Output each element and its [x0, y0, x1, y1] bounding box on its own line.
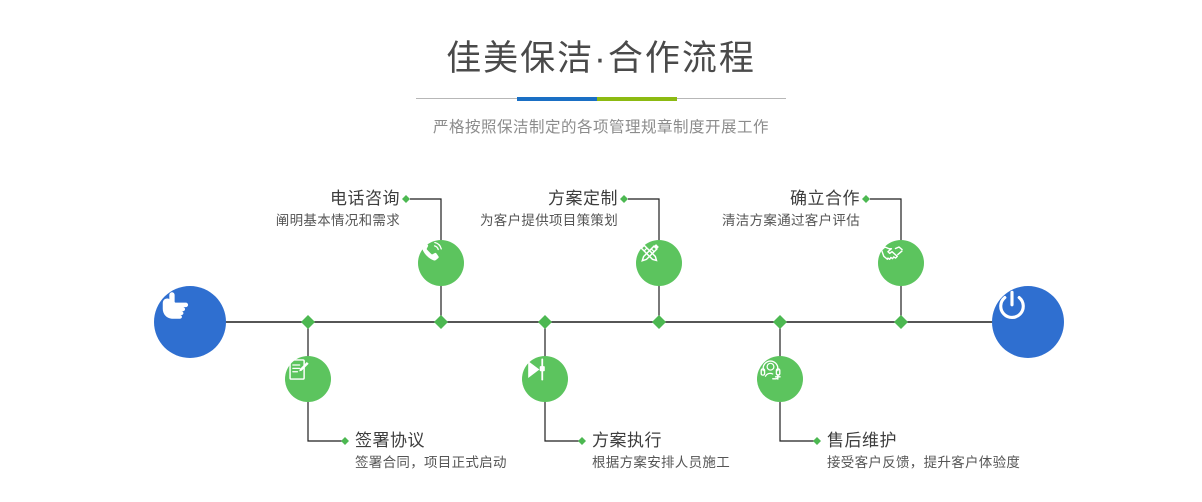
step-desc-4: 根据方案安排人员施工	[592, 452, 852, 474]
process-flow-diagram: 电话咨询 阐明基本情况和需求 签署协议 签署合同，项目正式启动	[0, 0, 1202, 502]
step-label-5: 确立合作 清洁方案通过客户评估	[612, 188, 860, 232]
handshake-icon	[878, 240, 906, 268]
play-execute-icon	[522, 356, 549, 383]
pointing-hand-icon	[154, 286, 194, 326]
step-desc-3: 为客户提供项目策策划	[370, 210, 618, 232]
flow-connectors	[0, 0, 1202, 502]
axis-node-5	[894, 315, 908, 329]
step-desc-2: 签署合同，项目正式启动	[355, 452, 615, 474]
leader-step-2	[308, 402, 345, 441]
step-label-1: 电话咨询 阐明基本情况和需求	[150, 188, 400, 232]
step-icon-3[interactable]	[636, 240, 682, 286]
step-icon-6[interactable]	[757, 356, 803, 402]
step-label-6: 售后维护 接受客户反馈，提升客户体验度	[827, 430, 1127, 474]
phone-call-icon	[418, 240, 445, 267]
step-desc-6: 接受客户反馈，提升客户体验度	[827, 452, 1127, 474]
flow-start-button[interactable]	[154, 286, 226, 358]
step-icon-4[interactable]	[522, 356, 568, 402]
label-marker-step-2	[341, 437, 349, 445]
label-marker-step-5	[862, 195, 870, 203]
power-icon	[992, 286, 1032, 326]
step-label-2: 签署协议 签署合同，项目正式启动	[355, 430, 615, 474]
step-title-1: 电话咨询	[150, 188, 400, 210]
step-icon-1[interactable]	[418, 240, 464, 286]
leader-step-5	[870, 199, 901, 240]
label-markers	[341, 195, 870, 445]
flow-end-button[interactable]	[992, 286, 1064, 358]
axis-node-4	[538, 315, 552, 329]
step-label-4: 方案执行 根据方案安排人员施工	[592, 430, 852, 474]
step-title-4: 方案执行	[592, 430, 852, 452]
step-title-5: 确立合作	[612, 188, 860, 210]
step-icon-5[interactable]	[878, 240, 924, 286]
step-icon-2[interactable]	[285, 356, 331, 402]
support-agent-add-icon	[757, 356, 784, 383]
axis-node-2	[301, 315, 315, 329]
step-title-2: 签署协议	[355, 430, 615, 452]
document-edit-icon	[285, 356, 312, 383]
step-title-6: 售后维护	[827, 430, 1127, 452]
step-label-3: 方案定制 为客户提供项目策策划	[370, 188, 618, 232]
axis-node-3	[652, 315, 666, 329]
axis-node-6	[773, 315, 787, 329]
step-desc-5: 清洁方案通过客户评估	[612, 210, 860, 232]
step-title-3: 方案定制	[370, 188, 618, 210]
axis-node-1	[434, 315, 448, 329]
step-desc-1: 阐明基本情况和需求	[150, 210, 400, 232]
pencil-design-icon	[636, 240, 663, 267]
